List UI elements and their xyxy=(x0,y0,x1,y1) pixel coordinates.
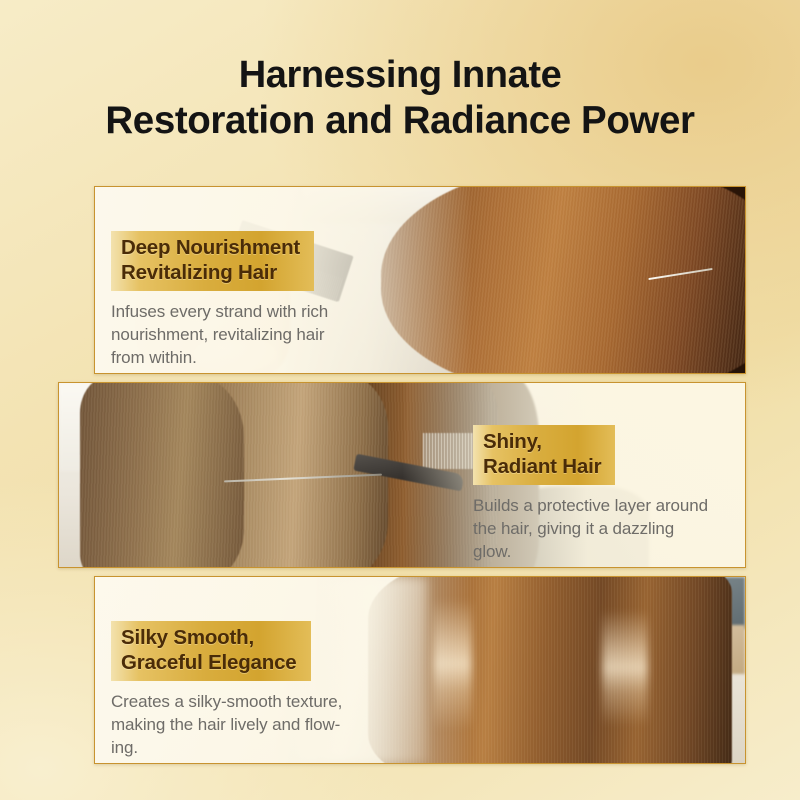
feature-desc-3: Creates a silky-smooth texture, making t… xyxy=(111,690,411,759)
feature-badge-1-line-1: Deep Nourishment xyxy=(121,235,300,260)
feature-badge-2-line-1: Shiny, xyxy=(483,429,601,454)
feature-text-3: Silky Smooth, Graceful Elegance Creates … xyxy=(111,621,411,759)
feature-desc-1-line-1: Infuses every strand with rich xyxy=(111,300,411,323)
feature-text-2: Shiny, Radiant Hair Builds a protective … xyxy=(473,425,746,563)
feature-desc-2: Builds a protective layer around the hai… xyxy=(473,494,746,563)
page-title-line-2: Restoration and Radiance Power xyxy=(0,98,800,144)
feature-desc-3-line-3: ing. xyxy=(111,736,411,759)
feature-panel-1: Deep Nourishment Revitalizing Hair Infus… xyxy=(94,186,746,374)
feature-badge-1: Deep Nourishment Revitalizing Hair xyxy=(111,231,314,291)
feature-desc-1-line-2: nourishment, revitalizing hair xyxy=(111,323,411,346)
feature-desc-1: Infuses every strand with rich nourishme… xyxy=(111,300,411,369)
feature-text-1: Deep Nourishment Revitalizing Hair Infus… xyxy=(111,231,411,369)
feature-desc-2-line-3: glow. xyxy=(473,540,746,563)
feature-badge-3-line-1: Silky Smooth, xyxy=(121,625,297,650)
feature-badge-3: Silky Smooth, Graceful Elegance xyxy=(111,621,311,681)
feature-desc-3-line-2: making the hair lively and flow- xyxy=(111,713,411,736)
feature-badge-2: Shiny, Radiant Hair xyxy=(473,425,615,485)
feature-panel-3: Silky Smooth, Graceful Elegance Creates … xyxy=(94,576,746,764)
feature-desc-1-line-3: from within. xyxy=(111,346,411,369)
feature-badge-2-line-2: Radiant Hair xyxy=(483,454,601,479)
page-title: Harnessing Innate Restoration and Radian… xyxy=(0,52,800,144)
feature-desc-3-line-1: Creates a silky-smooth texture, xyxy=(111,690,411,713)
feature-panel-2: Shiny, Radiant Hair Builds a protective … xyxy=(58,382,746,568)
page-title-line-1: Harnessing Innate xyxy=(0,52,800,98)
feature-desc-2-line-1: Builds a protective layer around xyxy=(473,494,746,517)
feature-badge-3-line-2: Graceful Elegance xyxy=(121,650,297,675)
feature-badge-1-line-2: Revitalizing Hair xyxy=(121,260,300,285)
feature-desc-2-line-2: the hair, giving it a dazzling xyxy=(473,517,746,540)
